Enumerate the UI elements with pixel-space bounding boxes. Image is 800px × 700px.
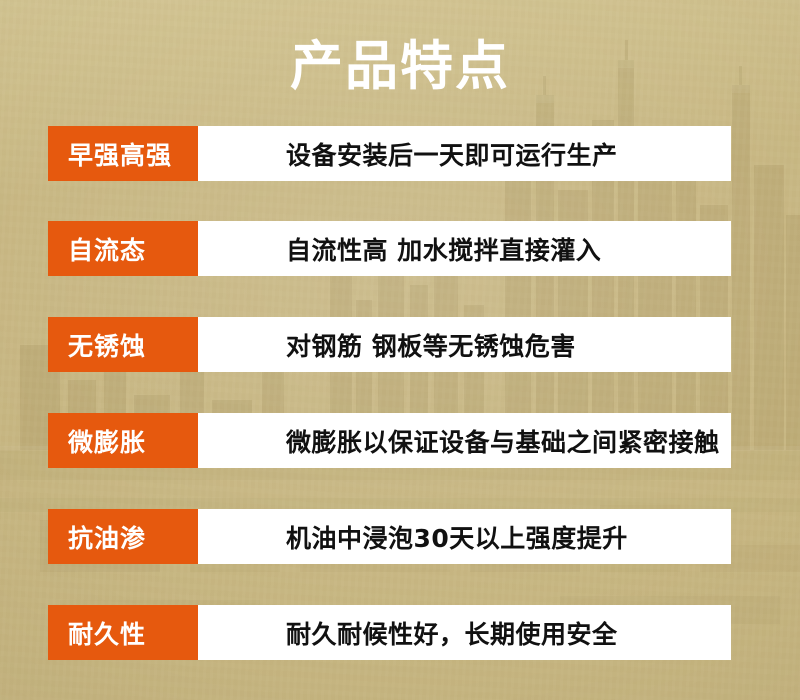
feature-tag-label: 自流态 (68, 221, 146, 276)
feature-tag-label: 无锈蚀 (68, 317, 146, 372)
feature-tag-label: 抗油渗 (68, 509, 146, 564)
list-item: 早强高强 设备安装后一天即可运行生产 (48, 126, 731, 181)
feature-list: 早强高强 设备安装后一天即可运行生产 自流态 自流性高 加水搅拌直接灌入 无锈蚀… (0, 0, 800, 700)
feature-description: 自流性高 加水搅拌直接灌入 (286, 221, 601, 276)
feature-description: 耐久耐候性好，长期使用安全 (286, 605, 618, 660)
feature-description: 机油中浸泡30天以上强度提升 (286, 509, 628, 564)
list-item: 自流态 自流性高 加水搅拌直接灌入 (48, 221, 731, 276)
feature-description: 设备安装后一天即可运行生产 (286, 126, 618, 181)
feature-tag-label: 微膨胀 (68, 413, 146, 468)
list-item: 耐久性 耐久耐候性好，长期使用安全 (48, 605, 731, 660)
list-item: 微膨胀 微膨胀以保证设备与基础之间紧密接触 (48, 413, 731, 468)
feature-tag-label: 早强高强 (68, 126, 172, 181)
list-item: 抗油渗 机油中浸泡30天以上强度提升 (48, 509, 731, 564)
list-item: 无锈蚀 对钢筋 钢板等无锈蚀危害 (48, 317, 731, 372)
feature-description: 微膨胀以保证设备与基础之间紧密接触 (286, 413, 720, 468)
feature-description: 对钢筋 钢板等无锈蚀危害 (286, 317, 576, 372)
product-features-poster: 产品特点 早强高强 设备安装后一天即可运行生产 自流态 自流性高 加水搅拌直接灌… (0, 0, 800, 700)
feature-tag-label: 耐久性 (68, 605, 146, 660)
